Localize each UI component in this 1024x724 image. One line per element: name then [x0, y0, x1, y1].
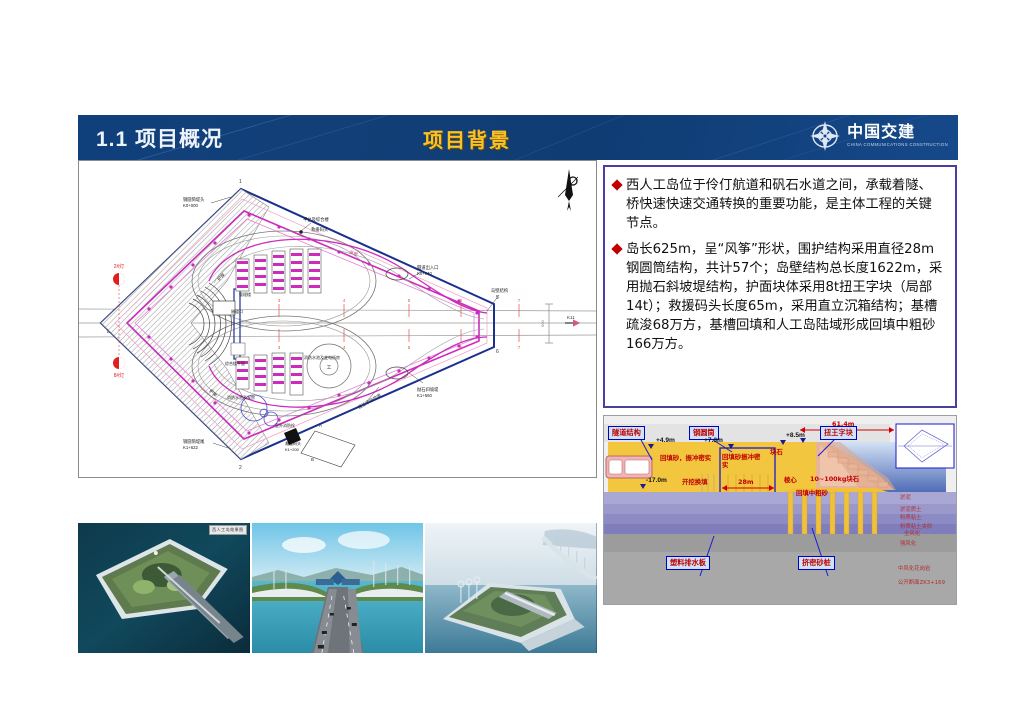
page-title: 项目背景	[423, 124, 511, 153]
slide: 1.1 项目概况 项目背景 中国交建 CHINA COMMUNICATIONS …	[78, 115, 958, 611]
svg-text:K1+560: K1+560	[417, 393, 433, 398]
plan-svg: 工	[79, 161, 597, 478]
svg-text:5: 5	[408, 298, 411, 303]
footnote-1: 中风化花岗岩	[898, 564, 930, 572]
strata-2: 淤泥质土	[900, 505, 922, 513]
svg-text:K1+622: K1+622	[183, 445, 199, 450]
strata-6: 强风化	[900, 539, 916, 547]
footnote-2: 公开断面ZK3+169	[898, 578, 945, 586]
svg-text:8#灯: 8#灯	[114, 372, 125, 379]
svg-text:4: 4	[343, 298, 346, 303]
logo-english-name: CHINA COMMUNICATIONS CONSTRUCTION	[847, 143, 948, 147]
note-rock-10-100kg: 10~100kg块石	[810, 474, 859, 483]
slide-header: 1.1 项目概况 项目背景 中国交建 CHINA COMMUNICATIONS …	[78, 115, 958, 160]
svg-text:4: 4	[343, 345, 346, 350]
label-twisted-block: 扭王字块	[820, 426, 857, 440]
slide-body: 工	[78, 160, 958, 611]
company-logo: 中国交建 CHINA COMMUNICATIONS CONSTRUCTION	[809, 120, 948, 152]
dimension-28: 28m	[738, 478, 754, 486]
strata-1: 淤泥	[900, 493, 911, 501]
svg-text:6: 6	[496, 349, 499, 355]
description-panel: 西人工岛位于伶仃航道和矾石水道之间，承载着隧、桥快速快速交通转换的重要功能，是主…	[603, 165, 957, 408]
cross-section-diagram: 隧道结构 钢圆筒 扭王字块 塑料排水板 挤密砂桩 +4.9m +7.3m +8.…	[603, 415, 957, 605]
svg-text:2#灯: 2#灯	[114, 263, 125, 270]
svg-text:隧道口: 隧道口	[231, 308, 243, 314]
svg-text:岛壁结构: 岛壁结构	[491, 287, 509, 294]
svg-text:救援码头: 救援码头	[285, 440, 301, 446]
svg-text:救援码头: 救援码头	[311, 226, 329, 233]
label-sand-pile: 挤密砂桩	[798, 556, 835, 570]
svg-text:A: A	[319, 423, 322, 428]
label-tunnel-structure: 隧道结构	[608, 426, 645, 440]
note-backfill-medium-sand: 回填中粗砂	[796, 488, 828, 497]
north-arrow-icon	[556, 167, 582, 218]
svg-text:K0+000: K0+000	[183, 203, 199, 208]
svg-text:L: L	[107, 329, 110, 335]
note-backfill-sand-compact-2: 回填砂振冲密实	[722, 453, 766, 469]
diamond-bullet-icon	[611, 179, 622, 190]
svg-text:工: 工	[326, 365, 331, 371]
highway-tunnel-entry-render	[252, 523, 424, 653]
svg-text:3: 3	[278, 298, 281, 303]
bullet-item: 岛长625m，呈“风筝”形状，围护结构采用直径28m钢圆筒结构，共计57个；岛壁…	[613, 240, 945, 354]
diamond-bullet-icon	[611, 243, 622, 254]
logo-chinese-name: 中国交建	[847, 125, 948, 141]
ccc-compass-icon	[809, 120, 841, 152]
render-photo-strip: 西人工岛效果图	[78, 523, 597, 653]
page-section-title: 1.1 项目概况	[96, 123, 223, 153]
svg-text:1: 1	[239, 179, 242, 185]
label-plastic-drain: 塑料排水板	[666, 556, 710, 570]
svg-text:综合楼平面: 综合楼平面	[225, 360, 245, 366]
elevation-49: +4.9m	[656, 437, 675, 444]
svg-text:K0+940: K0+940	[417, 271, 433, 276]
bullet-text: 西人工岛位于伶仃航道和矾石水道之间，承载着隧、桥快速快速交通转换的重要功能，是主…	[626, 176, 945, 233]
nav-marker-bottom: 8#灯	[113, 357, 125, 379]
svg-text:3: 3	[278, 345, 281, 350]
svg-text:5: 5	[408, 345, 411, 350]
island-bridge-render	[425, 523, 597, 653]
aerial-island-render: 西人工岛效果图	[78, 523, 250, 653]
svg-text:室外消防栓: 室外消防栓	[275, 422, 295, 428]
note-backfill-sand-compact: 回填砂，振冲密实	[660, 453, 711, 462]
svg-text:500: 500	[540, 320, 545, 327]
svg-text:7: 7	[518, 298, 521, 303]
elevation-85: +8.5m	[786, 432, 805, 439]
note-rock: 块石	[770, 447, 783, 456]
svg-text:抛石斜坡堤: 抛石斜坡堤	[417, 386, 439, 393]
svg-text:管理楼: 管理楼	[239, 291, 251, 297]
svg-text:平台及综合楼: 平台及综合楼	[303, 216, 329, 223]
svg-text:消防水池及泵房: 消防水池及泵房	[227, 394, 255, 400]
note-excavate-replace: 开挖换填	[682, 477, 708, 486]
svg-text:2: 2	[239, 465, 242, 471]
svg-text:钢圆筒堤尾: 钢圆筒堤尾	[183, 438, 205, 445]
svg-text:消防水池及变电所房: 消防水池及变电所房	[304, 354, 340, 360]
photo-caption: 西人工岛效果图	[209, 525, 247, 535]
elevation-neg17: -17.0m	[646, 477, 667, 484]
elevation-73: +7.3m	[704, 437, 723, 444]
svg-text:6: 6	[460, 298, 463, 303]
bullet-text: 岛长625m，呈“风筝”形状，围护结构采用直径28m钢圆筒结构，共计57个；岛壁…	[626, 240, 945, 354]
strata-3: 粉质粘土	[900, 513, 922, 521]
dimension-614: 61.4m	[832, 420, 854, 428]
svg-text:钢圆筒堤头: 钢圆筒堤头	[183, 196, 205, 203]
bullet-item: 西人工岛位于伶仃航道和矾石水道之间，承载着隧、桥快速快速交通转换的重要功能，是主…	[613, 176, 945, 233]
svg-text:B: B	[311, 457, 314, 462]
svg-text:K1+200: K1+200	[285, 447, 300, 452]
svg-text:7: 7	[518, 345, 521, 350]
svg-text:K11: K11	[567, 315, 575, 320]
svg-text:隧道出入口: 隧道出入口	[417, 264, 438, 271]
svg-text:5: 5	[496, 295, 499, 301]
site-plan-drawing: 工	[78, 160, 597, 478]
note-core: 棱心	[784, 475, 797, 484]
strata-5: 全风化	[904, 529, 920, 537]
